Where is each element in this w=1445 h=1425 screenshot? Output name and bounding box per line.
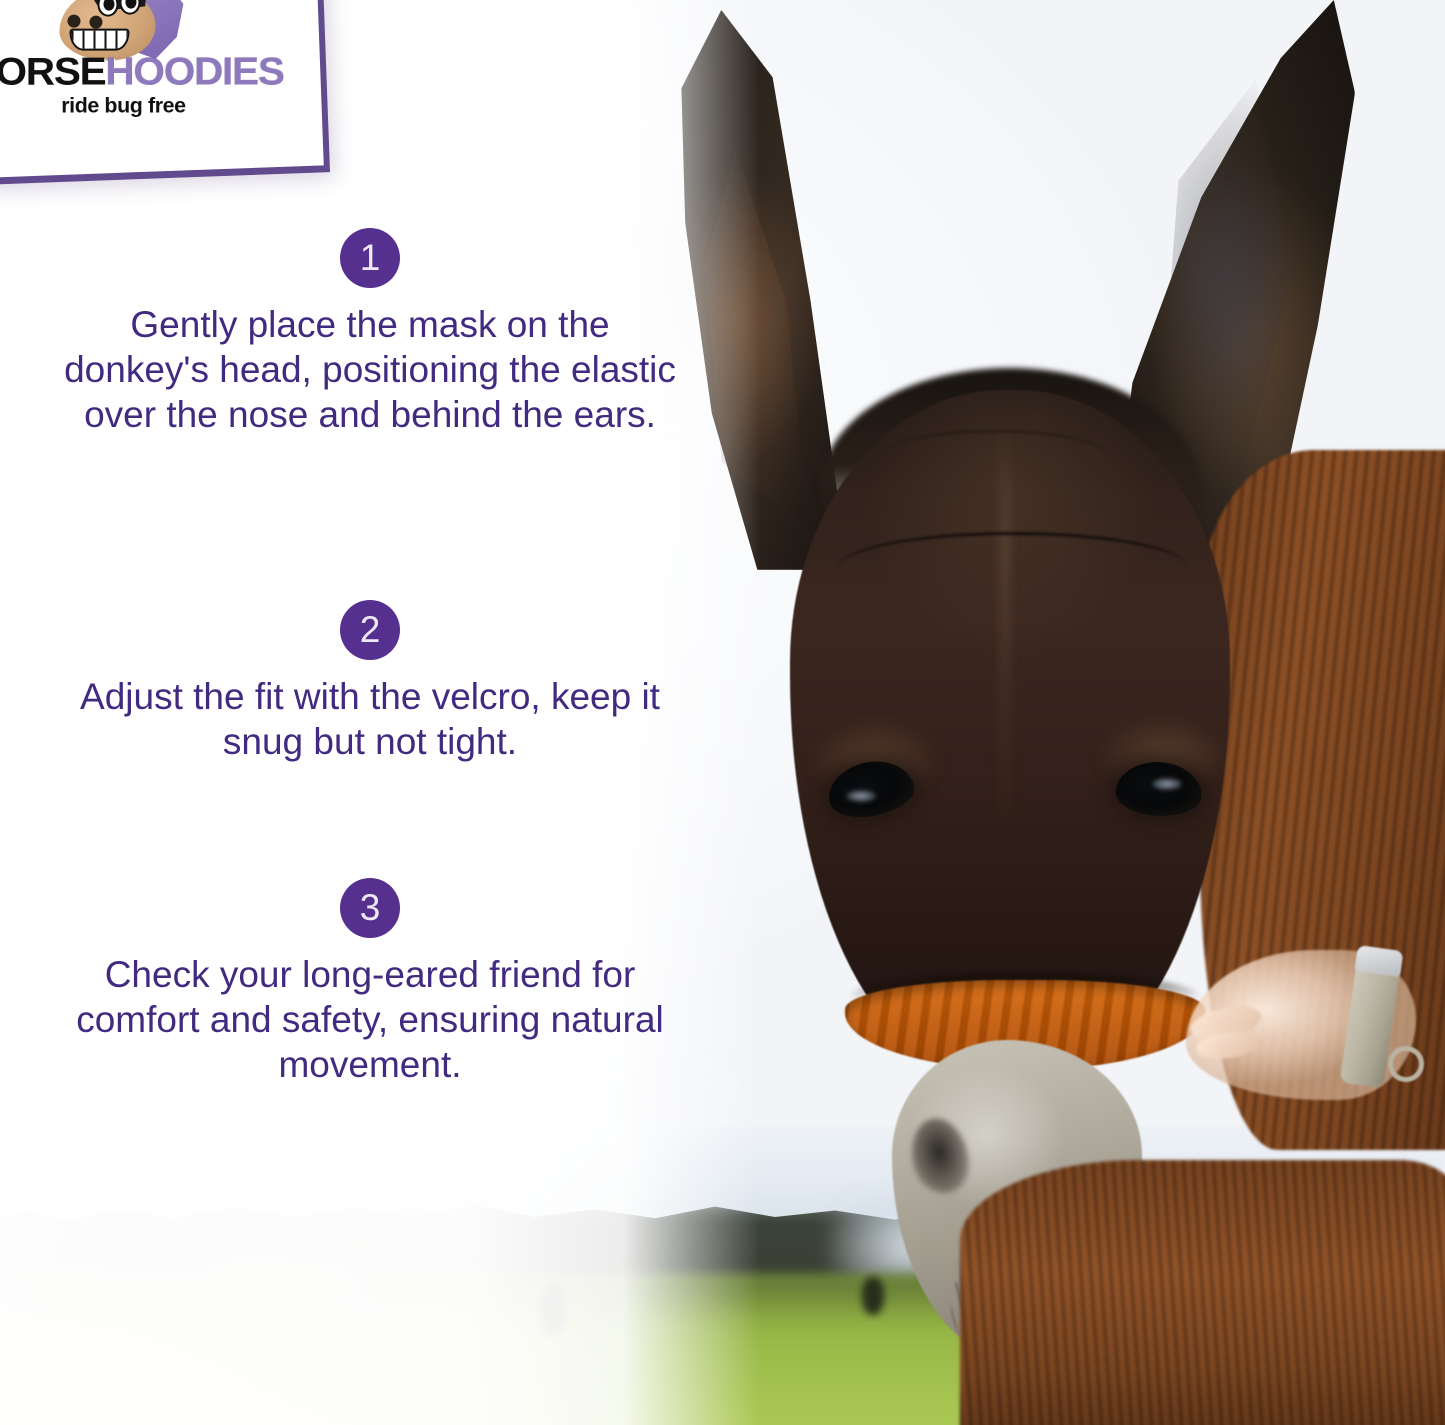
- eye-highlight-left: [846, 790, 876, 802]
- eye-highlight-right: [1152, 778, 1182, 790]
- grazing-animal: [862, 1277, 884, 1315]
- step-1-text: Gently place the mask on the donkey's he…: [0, 302, 740, 437]
- nose-ridge-highlight: [1000, 420, 1010, 840]
- step-1-badge: 1: [340, 228, 400, 288]
- step-2: 2 Adjust the fit with the velcro, keep i…: [0, 600, 740, 764]
- step-2-text: Adjust the fit with the velcro, keep it …: [0, 674, 740, 764]
- instruction-graphic: HORSEHOODIES ride bug free 1 Gently plac…: [0, 0, 1445, 1425]
- donkey-chest-fur: [960, 1160, 1445, 1425]
- step-3: 3 Check your long-eared friend for comfo…: [0, 878, 740, 1087]
- step-2-badge: 2: [340, 600, 400, 660]
- step-3-text: Check your long-eared friend for comfort…: [0, 952, 740, 1087]
- step-3-badge: 3: [340, 878, 400, 938]
- step-1: 1 Gently place the mask on the donkey's …: [0, 228, 740, 437]
- instruction-steps: 1 Gently place the mask on the donkey's …: [0, 0, 740, 1425]
